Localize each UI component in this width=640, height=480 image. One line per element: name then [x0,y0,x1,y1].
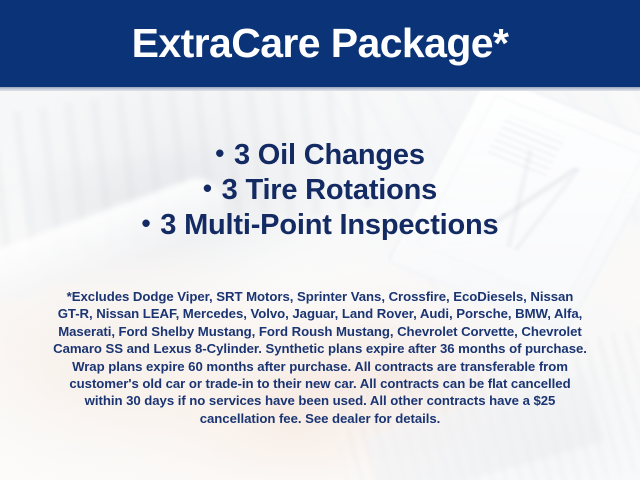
header-bar: ExtraCare Package* [0,0,640,87]
bullet-icon: • [215,138,224,168]
benefit-item: • 3 Tire Rotations [0,173,640,208]
disclaimer-block: *Excludes Dodge Viper, SRT Motors, Sprin… [28,288,612,427]
bullet-icon: • [142,208,151,238]
extracare-package-ad: ExtraCare Package* • 3 Oil Changes • 3 T… [0,0,640,480]
bullet-icon: • [203,173,212,203]
disclaimer-line: *Excludes Dodge Viper, SRT Motors, Sprin… [28,288,612,305]
disclaimer-line: Wrap plans expire 60 months after purcha… [28,358,612,375]
disclaimer-line: within 30 days if no services have been … [28,392,612,409]
disclaimer-line: Maserati, Ford Shelby Mustang, Ford Rous… [28,323,612,340]
disclaimer-line: Camaro SS and Lexus 8-Cylinder. Syntheti… [28,340,612,357]
benefits-list: • 3 Oil Changes • 3 Tire Rotations • 3 M… [0,138,640,243]
page-title: ExtraCare Package* [132,23,509,64]
benefit-item: • 3 Multi-Point Inspections [0,208,640,243]
disclaimer-line: customer's old car or trade-in to their … [28,375,612,392]
benefit-item: • 3 Oil Changes [0,138,640,173]
header-underline-divider [0,87,640,91]
benefit-item-label: 3 Multi-Point Inspections [160,209,498,241]
disclaimer-line: cancellation fee. See dealer for details… [28,410,612,427]
benefit-item-label: 3 Oil Changes [234,139,425,171]
disclaimer-line: GT-R, Nissan LEAF, Mercedes, Volvo, Jagu… [28,305,612,322]
benefit-item-label: 3 Tire Rotations [222,174,437,206]
